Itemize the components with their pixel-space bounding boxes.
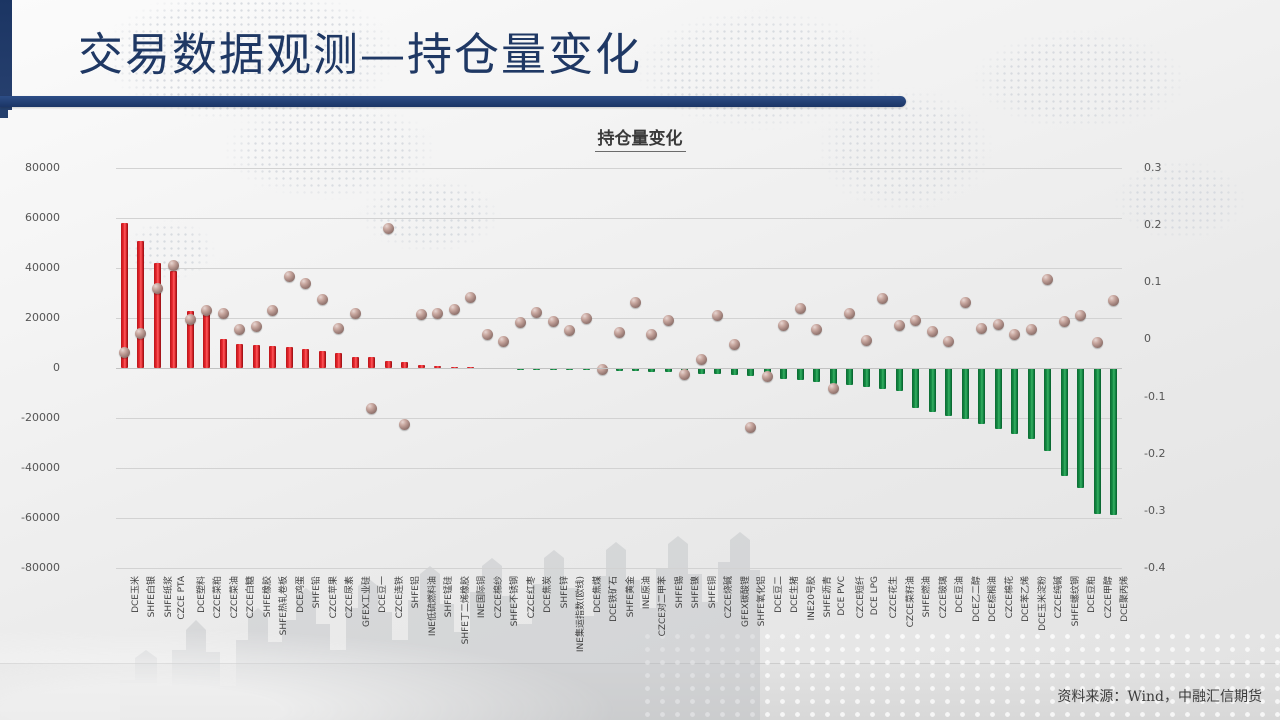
chart-title: 持仓量变化 [0,124,1280,149]
chart-scatter-marker [712,310,723,321]
slide-canvas: 交易数据观测—持仓量变化 持仓量变化 800006000040000200000… [0,0,1280,720]
x-axis-tick-label: CZCE菜粕 [210,576,223,618]
chart-scatter-marker [910,315,921,326]
chart-scatter-marker [1075,310,1086,321]
chart-scatter-marker [498,336,509,347]
chart-scatter-marker [333,323,344,334]
x-axis-tick-label: INE20号胶 [804,576,817,621]
x-axis-tick-label: CZCE白糖 [243,576,256,618]
chart-bar [863,368,870,387]
chart-bar [731,368,738,375]
grid-line [116,468,1122,469]
chart-scatter-marker [350,308,361,319]
x-axis-tick-label: SHFE氧化铝 [754,576,767,626]
chart-scatter-marker [531,307,542,318]
chart-bar [747,368,754,376]
chart-scatter-marker [251,321,262,332]
chart-scatter-marker [993,319,1004,330]
y2-axis-tick-label: -0.4 [1144,561,1206,574]
x-axis-tick-label: CZCE甲醇 [1101,576,1114,618]
x-axis-tick-label: SHFE白银 [144,576,157,617]
chart-bar [1061,368,1068,476]
chart-scatter-marker [597,364,608,375]
chart-scatter-marker [679,369,690,380]
chart-scatter-marker [976,323,987,334]
chart-scatter-marker [185,314,196,325]
chart-scatter-marker [135,328,146,339]
chart-bar [269,346,276,368]
y-axis-tick-label: -40000 [0,461,60,474]
x-axis-tick-label: CZCE连铁 [392,576,405,618]
chart-scatter-marker [762,371,773,382]
y-axis-tick-label: 60000 [0,211,60,224]
chart-scatter-marker [828,383,839,394]
chart-scatter-marker [778,320,789,331]
chart-scatter-marker [152,283,163,294]
x-axis-tick-label: SHFE橡胶 [260,576,273,617]
chart-scatter-marker [630,297,641,308]
chart-scatter-marker [696,354,707,365]
chart-scatter-marker [300,278,311,289]
chart-bar [170,271,177,368]
x-axis-tick-label: CZCE苹果 [326,576,339,618]
x-axis-tick-label: SHFE镍 [688,576,701,608]
x-axis-tick-label: SHFE黄金 [623,576,636,617]
chart-title-text: 持仓量变化 [595,129,686,152]
chart-bar [912,368,919,408]
x-axis-tick-label: SHFE丁二烯橡胶 [458,576,471,644]
chart-scatter-marker [811,324,822,335]
chart-scatter-marker [795,303,806,314]
chart-bar [385,361,392,368]
x-axis-tick-label: DCE豆一 [375,576,388,613]
chart-scatter-marker [1092,337,1103,348]
chart-scatter-marker [399,419,410,430]
chart-scatter-marker [548,316,559,327]
chart-bar [286,347,293,369]
chart-scatter-marker [861,335,872,346]
chart-scatter-marker [614,327,625,338]
x-axis-tick-label: CZCE纯碱 [1051,576,1064,618]
chart-bar [1011,368,1018,434]
chart-bar [879,368,886,389]
y2-axis-tick-label: 0.3 [1144,161,1206,174]
x-axis-tick-label: DCE豆粕 [1084,576,1097,613]
x-axis-tick-label: INE低硫燃料油 [425,576,438,636]
x-axis-tick-label: CZCE棉纱 [491,576,504,618]
chart-scatter-marker [927,326,938,337]
chart-scatter-marker [317,294,328,305]
chart-scatter-marker [234,324,245,335]
x-axis-tick-label: DCE豆油 [952,576,965,613]
chart-bar [896,368,903,391]
chart-bar [302,349,309,368]
y2-axis-tick-label: 0.1 [1144,275,1206,288]
source-note: 资料来源：Wind，中融汇信期货 [1057,686,1262,706]
position-change-chart: 持仓量变化 800006000040000200000-20000-40000-… [0,118,1280,678]
x-axis-tick-label: DCE生猪 [787,576,800,613]
x-axis-tick-label: CZCE对二甲苯 [655,576,668,636]
x-axis-tick-label: SHFE锌 [557,576,570,608]
chart-scatter-marker [482,329,493,340]
chart-scatter-marker [1026,324,1037,335]
chart-plot-area: 800006000040000200000-20000-40000-60000-… [116,168,1122,680]
chart-scatter-marker [267,305,278,316]
x-axis-tick-label: SHFE锰硅 [441,576,454,617]
x-axis-tick-label: INE集运指数(欧线) [573,576,586,652]
x-axis-tick-label: SHFE沥青 [820,576,833,617]
x-axis-tick-label: CZCE棉花 [1002,576,1015,618]
x-axis-tick-label: CZCE菜籽油 [903,576,916,627]
chart-scatter-marker [1059,316,1070,327]
x-axis-tick-label: CZCE花生 [886,576,899,618]
chart-scatter-marker [1009,329,1020,340]
grid-line [116,168,1122,169]
y-axis-tick-label: 0 [0,361,60,374]
y-axis-tick-label: 20000 [0,311,60,324]
x-axis-tick-label: DCE塑料 [194,576,207,613]
chart-scatter-marker [663,315,674,326]
x-axis-tick-label: DCE玉米 [128,576,141,613]
chart-bar [945,368,952,416]
chart-scatter-marker [1042,274,1053,285]
grid-line [116,268,1122,269]
x-axis-tick-label: DCE铁矿石 [606,576,619,622]
chart-scatter-marker [646,329,657,340]
x-axis-tick-label: DCE鸡蛋 [293,576,306,613]
x-axis-tick-label: SHFE锡 [672,576,685,608]
grid-line [116,218,1122,219]
x-axis-tick-label: DCE PVC [837,576,847,616]
chart-scatter-marker [366,403,377,414]
chart-bar [220,339,227,368]
chart-bar [962,368,969,419]
x-axis-tick-label: DCE豆二 [771,576,784,613]
chart-scatter-marker [581,313,592,324]
x-axis-tick-label: DCE棕榈油 [985,576,998,622]
y-axis-tick-label: 80000 [0,161,60,174]
y-axis-tick-label: -60000 [0,511,60,524]
chart-bar [978,368,985,424]
x-axis-tick-label: SHFE铝 [408,576,421,608]
chart-bar [1077,368,1084,488]
grid-line [116,568,1122,569]
x-axis-tick-label: DCE聚丙烯 [1117,576,1130,622]
x-axis-tick-label: CZCE烧碱 [721,576,734,618]
x-axis-tick-label: DCE乙二醇 [969,576,982,622]
y2-axis-tick-label: -0.3 [1144,504,1206,517]
x-axis-tick-label: DCE LPG [870,576,880,615]
chart-scatter-marker [729,339,740,350]
header-left-accent-bar [0,0,12,110]
x-axis-tick-label: SHFE铜 [705,576,718,608]
chart-scatter-marker [432,308,443,319]
chart-scatter-marker [515,317,526,328]
y2-axis-tick-label: 0.2 [1144,218,1206,231]
chart-scatter-marker [416,309,427,320]
y-axis-tick-label: 40000 [0,261,60,274]
chart-scatter-marker [745,422,756,433]
chart-scatter-marker [877,293,888,304]
y-axis-tick-label: -80000 [0,561,60,574]
chart-bar [797,368,804,380]
grid-line [116,518,1122,519]
x-axis-tick-label: DCE苯乙烯 [1018,576,1031,622]
x-axis-tick-label: SHFE热轧卷板 [276,576,289,635]
page-title: 交易数据观测—持仓量变化 [78,27,642,83]
chart-scatter-marker [201,305,212,316]
x-axis-tick-label: INE国际铜 [474,576,487,618]
chart-scatter-marker [449,304,460,315]
y2-axis-tick-label: 0 [1144,332,1206,345]
x-axis-tick-label: SHFE铅 [309,576,322,608]
x-axis-tick-label: CZCE短纤 [853,576,866,618]
chart-scatter-marker [284,271,295,282]
x-axis-tick-label: SHFE不锈钢 [507,576,520,626]
y-axis-tick-label: -20000 [0,411,60,424]
x-axis-tick-label: CZCE尿素 [342,576,355,618]
chart-bar [368,357,375,368]
chart-scatter-marker [894,320,905,331]
chart-scatter-marker [383,223,394,234]
chart-bar [352,357,359,368]
header-underline-band [0,96,906,107]
x-axis-tick-label: CZCE PTA [177,576,187,620]
x-axis-tick-label: SHFE螺纹钢 [1068,576,1081,626]
x-axis-tick-label: INE原油 [639,576,652,609]
chart-scatter-marker [119,347,130,358]
chart-scatter-marker [1108,295,1119,306]
chart-bar [1094,368,1101,514]
x-axis-tick-label: GFEX工业硅 [359,576,372,627]
x-axis-tick-label: CZCE玻璃 [936,576,949,618]
chart-bar [319,351,326,368]
chart-scatter-marker [218,308,229,319]
x-axis-tick-label: CZCE菜油 [227,576,240,618]
chart-scatter-marker [960,297,971,308]
chart-scatter-marker [465,292,476,303]
chart-bar [780,368,787,379]
x-axis-tick-label: SHFE纸浆 [161,576,174,617]
y2-axis-tick-label: -0.2 [1144,447,1206,460]
chart-bar [1110,368,1117,515]
chart-bar [830,368,837,384]
chart-scatter-marker [943,336,954,347]
x-axis-tick-label: SHFE燃油 [919,576,932,617]
chart-bar [1044,368,1051,451]
chart-bar [253,345,260,368]
chart-bar [846,368,853,385]
chart-bar [203,313,210,368]
chart-bar [154,263,161,369]
x-axis-tick-label: DCE焦煤 [590,576,603,613]
chart-bar [236,344,243,369]
grid-line [116,318,1122,319]
grid-line [116,418,1122,419]
chart-bar [929,368,936,412]
chart-scatter-marker [564,325,575,336]
chart-bar [1028,368,1035,439]
chart-bar [137,241,144,368]
header-left-accent-bar-foot [0,108,8,118]
x-axis-tick-label: DCE玉米淀粉 [1035,576,1048,631]
x-axis-tick-label: GFEX碳酸锂 [738,576,751,627]
y2-axis-tick-label: -0.1 [1144,390,1206,403]
zero-baseline [116,368,1122,369]
chart-bar [995,368,1002,429]
chart-bar [813,368,820,382]
chart-scatter-marker [168,260,179,271]
x-axis-tick-label: CZCE红枣 [524,576,537,618]
x-axis-tick-label: DCE焦炭 [540,576,553,613]
chart-bar [335,353,342,368]
